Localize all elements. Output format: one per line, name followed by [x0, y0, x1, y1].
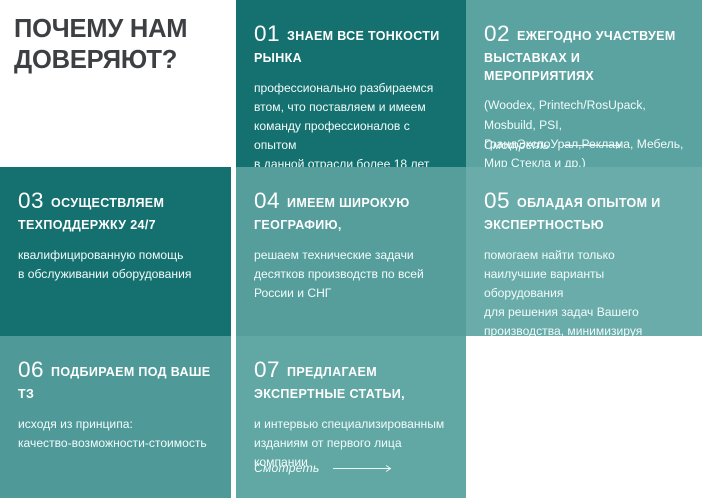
feature-number-03: 03	[18, 188, 44, 213]
feature-body-03: квалифицированную помощь в обслуживании …	[18, 246, 215, 284]
title-cell: ПОЧЕМУ НАМ ДОВЕРЯЮТ?	[0, 0, 231, 167]
feature-heading-02: 02ЕЖЕГОДНО УЧАСТВУЕМ ВЫСТАВКАХ И МЕРОПРИ…	[484, 18, 686, 85]
feature-heading-05: 05ОБЛАДАЯ ОПЫТОМ И ЭКСПЕРТНОСТЬЮ	[484, 185, 686, 235]
feature-cell-06[interactable]: 06ПОДБИРАЕМ ПОД ВАШЕ ТЗ исходя из принци…	[0, 336, 231, 498]
feature-body-04: решаем технические задачи десятков произ…	[254, 246, 450, 303]
feature-heading-06: 06ПОДБИРАЕМ ПОД ВАШЕ ТЗ	[18, 354, 215, 404]
more-link-02[interactable]: Смотреть	[484, 138, 625, 152]
feature-heading-04: 04ИМЕЕМ ШИРОКУЮ ГЕОГРАФИЮ,	[254, 185, 450, 235]
feature-cell-03[interactable]: 03ОСУЩЕСТВЛЯЕМ ТЕХПОДДЕРЖКУ 24/7 квалифи…	[0, 167, 231, 336]
more-link-07[interactable]: Смотреть	[254, 461, 395, 475]
more-link-label-07: Смотреть	[254, 461, 320, 475]
feature-number-05: 05	[484, 188, 510, 213]
arrow-right-icon	[333, 464, 395, 473]
feature-body-05: помогаем найти только наилучшие варианты…	[484, 246, 686, 336]
feature-heading-03: 03ОСУЩЕСТВЛЯЕМ ТЕХПОДДЕРЖКУ 24/7	[18, 185, 215, 235]
feature-number-01: 01	[254, 21, 280, 46]
arrow-right-icon	[563, 141, 625, 150]
infographic-board: ПОЧЕМУ НАМ ДОВЕРЯЮТ? 01ЗНАЕМ ВСЕ ТОНКОСТ…	[0, 0, 720, 498]
feature-heading-07: 07ПРЕДЛАГАЕМ ЭКСПЕРТНЫЕ СТАТЬИ,	[254, 354, 450, 404]
feature-body-06: исходя из принципа: качество-возможности…	[18, 415, 215, 453]
feature-number-04: 04	[254, 188, 280, 213]
feature-number-07: 07	[254, 357, 280, 382]
empty-cell	[466, 336, 702, 498]
feature-body-02: (Woodex, Printech/RosUpack, Mosbuild, PS…	[484, 96, 686, 167]
feature-body-01: профессионально разбираемся втом, что по…	[254, 79, 450, 167]
feature-number-02: 02	[484, 21, 510, 46]
feature-heading-text-01: ЗНАЕМ ВСЕ ТОНКОСТИ РЫНКА	[254, 29, 440, 65]
feature-cell-04[interactable]: 04ИМЕЕМ ШИРОКУЮ ГЕОГРАФИЮ, решаем технич…	[236, 167, 466, 336]
feature-heading-text-02: ЕЖЕГОДНО УЧАСТВУЕМ ВЫСТАВКАХ И МЕРОПРИЯТ…	[484, 29, 676, 83]
feature-cell-02[interactable]: 02ЕЖЕГОДНО УЧАСТВУЕМ ВЫСТАВКАХ И МЕРОПРИ…	[466, 0, 702, 167]
more-link-label-02: Смотреть	[484, 138, 550, 152]
feature-number-06: 06	[18, 357, 44, 382]
feature-cell-01[interactable]: 01ЗНАЕМ ВСЕ ТОНКОСТИ РЫНКА профессиональ…	[236, 0, 466, 167]
page-title: ПОЧЕМУ НАМ ДОВЕРЯЮТ?	[14, 14, 221, 76]
feature-cell-07[interactable]: 07ПРЕДЛАГАЕМ ЭКСПЕРТНЫЕ СТАТЬИ, и интерв…	[236, 336, 466, 498]
feature-heading-text-05: ОБЛАДАЯ ОПЫТОМ И ЭКСПЕРТНОСТЬЮ	[484, 196, 661, 232]
feature-heading-01: 01ЗНАЕМ ВСЕ ТОНКОСТИ РЫНКА	[254, 18, 450, 68]
feature-heading-text-06: ПОДБИРАЕМ ПОД ВАШЕ ТЗ	[18, 365, 211, 401]
feature-cell-05[interactable]: 05ОБЛАДАЯ ОПЫТОМ И ЭКСПЕРТНОСТЬЮ помогае…	[466, 167, 702, 336]
